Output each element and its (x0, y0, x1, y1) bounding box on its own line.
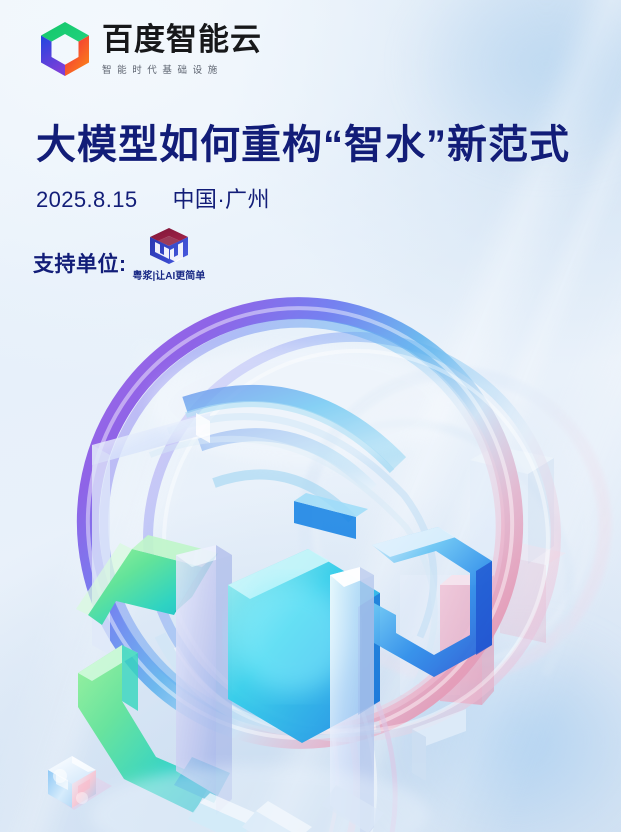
sponsor-logo: 粤浆|让AI更简单 (133, 226, 206, 282)
brand-name: 百度智能云 (102, 24, 262, 57)
poster-title: 大模型如何重构“智水”新范式 (36, 122, 570, 168)
sponsor-label: 支持单位: (33, 248, 127, 282)
event-poster: 百度智能云 智能时代基础设施 大模型如何重构“智水”新范式 2025.8.15 … (0, 0, 621, 832)
brand-tagline: 智能时代基础设施 (102, 62, 262, 76)
sponsor-logo-text: 粤浆|让AI更简单 (133, 267, 206, 282)
sponsor-block: 支持单位: (33, 226, 205, 282)
glass-ice-cube-icon (38, 746, 116, 818)
baidu-cloud-hexagon-icon (39, 20, 91, 78)
event-meta: 2025.8.15 中国·广州 (36, 182, 270, 214)
event-location: 中国·广州 (173, 187, 270, 212)
brand-text-block: 百度智能云 智能时代基础设施 (102, 22, 262, 76)
event-date: 2025.8.15 (36, 187, 137, 212)
background-top-glow (330, 0, 621, 220)
brand-header: 百度智能云 智能时代基础设施 (39, 20, 262, 78)
yuejiang-cube-icon (146, 226, 192, 266)
